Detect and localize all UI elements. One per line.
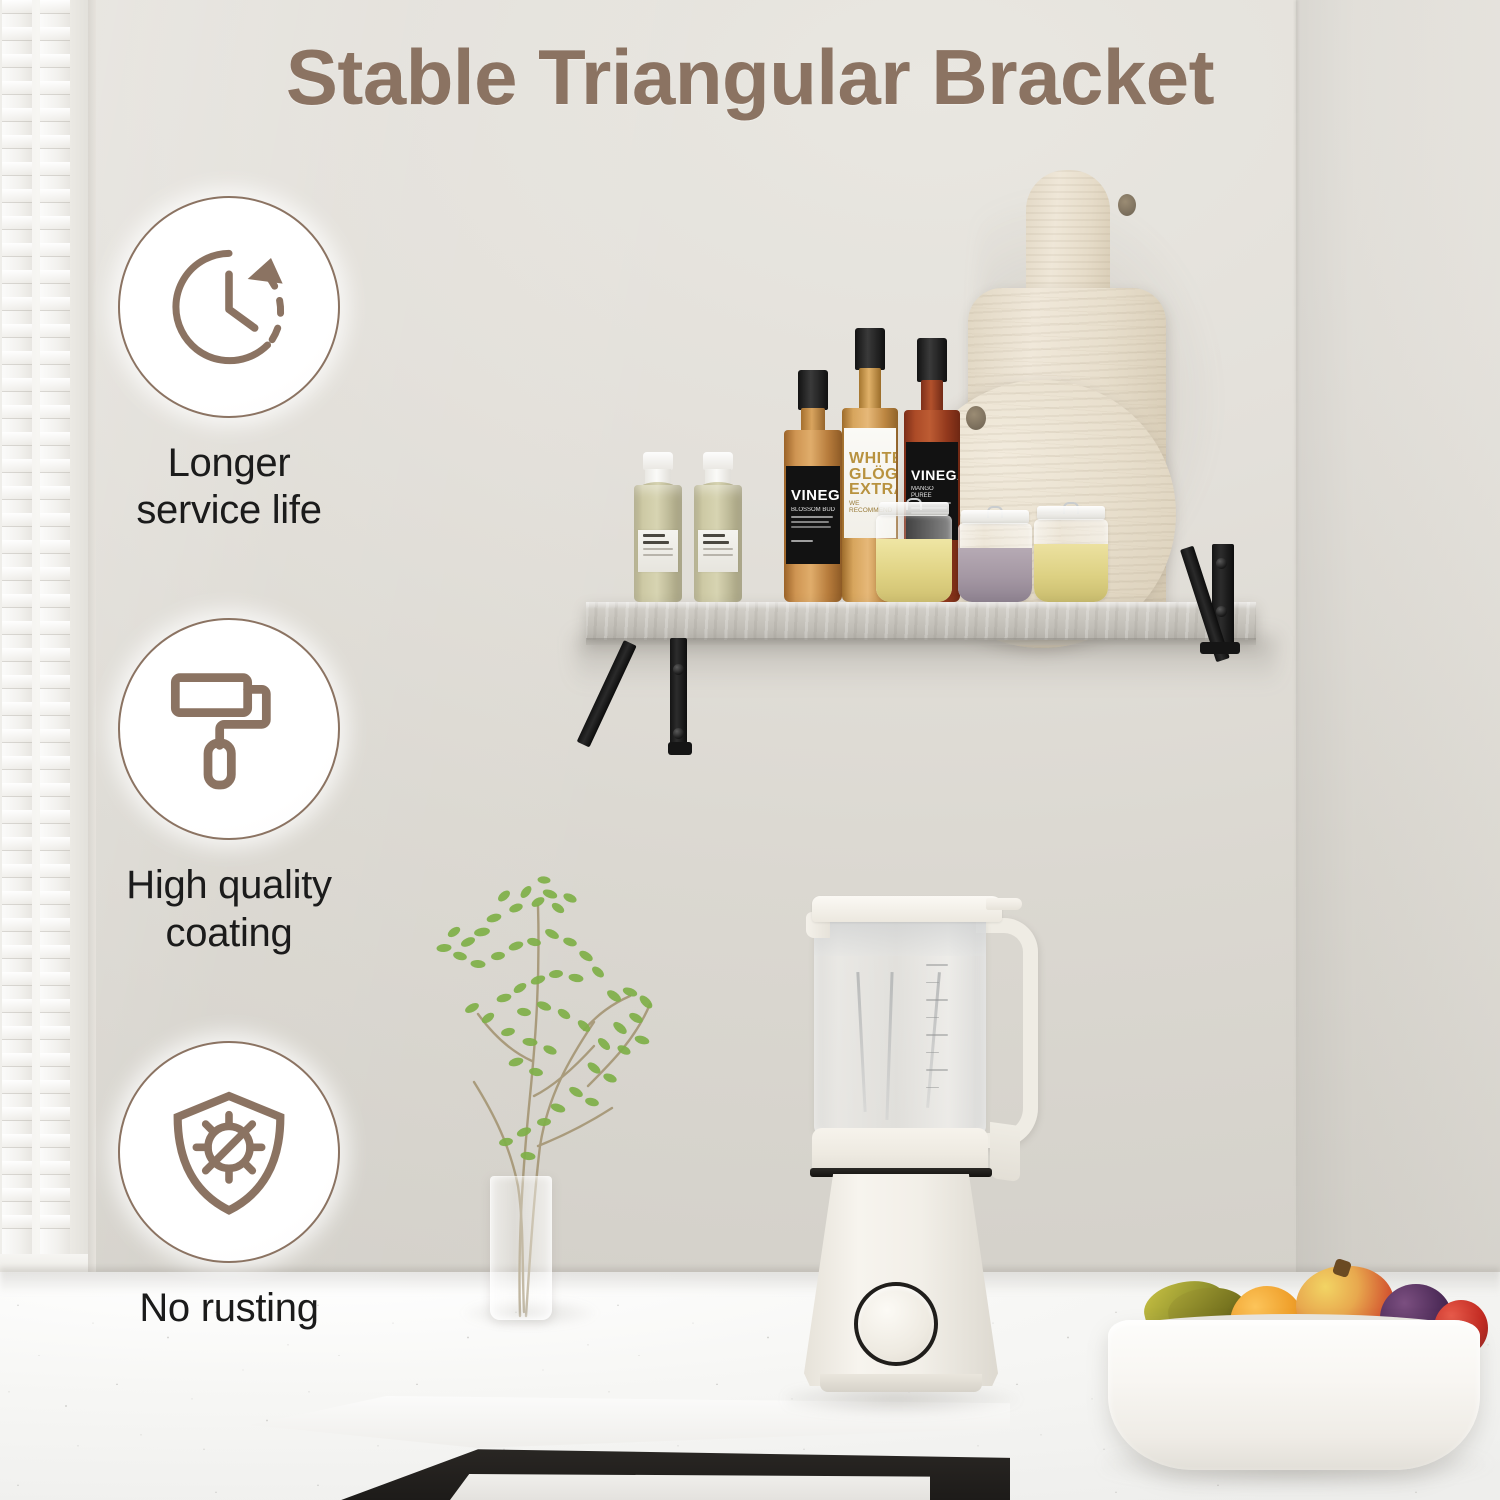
feature-high-quality-coating: High quality coating bbox=[64, 618, 394, 956]
shutter-slat bbox=[2, 351, 32, 364]
shutter-slat bbox=[2, 972, 32, 985]
wall-corner-seam bbox=[1295, 0, 1298, 1290]
bottle-label bbox=[638, 530, 678, 572]
shutter-slat bbox=[2, 756, 32, 769]
bottle-label bbox=[698, 530, 738, 572]
shutter-slat bbox=[40, 0, 70, 13]
shutter-slat bbox=[2, 837, 32, 850]
jar-contents bbox=[1034, 544, 1108, 602]
jar-lid bbox=[1037, 506, 1105, 520]
bottle-cap bbox=[643, 452, 673, 470]
shutter-slat bbox=[40, 162, 70, 175]
blender-lid-tab bbox=[986, 898, 1022, 910]
bottle-cap bbox=[855, 328, 885, 370]
feature-label: Longer service life bbox=[64, 440, 394, 534]
jar-contents bbox=[876, 539, 952, 602]
bottle-label: VINEGAR BLOSSOM BUD bbox=[786, 466, 840, 564]
shelf-board bbox=[586, 602, 1256, 640]
round-board-hole bbox=[966, 406, 986, 430]
juice-bottle-right bbox=[694, 452, 742, 602]
ceramic-fruit-bowl bbox=[1108, 1320, 1480, 1470]
wall-corner-shading bbox=[1296, 0, 1500, 1300]
shutter-slat bbox=[2, 729, 32, 742]
shutter-slat bbox=[2, 810, 32, 823]
shelf-bracket-left bbox=[624, 638, 702, 756]
jar-glass bbox=[958, 523, 1032, 602]
shutter-slat bbox=[2, 1134, 32, 1147]
pitcher-measurement-scale bbox=[926, 964, 960, 1104]
feature-no-rusting: No rusting bbox=[64, 1041, 394, 1332]
jar-glass bbox=[1034, 519, 1108, 602]
bracket-screw-bottom bbox=[1216, 606, 1227, 617]
shutter-slat bbox=[2, 1188, 32, 1201]
bracket-foot bbox=[1200, 642, 1240, 654]
shutter-slat bbox=[2, 1080, 32, 1093]
feature-label: No rusting bbox=[64, 1285, 394, 1332]
grain-jar-3 bbox=[1034, 506, 1108, 602]
jar-contents bbox=[958, 548, 1032, 602]
vinegar-bottle-1: VINEGAR BLOSSOM BUD bbox=[784, 370, 842, 602]
page-title: Stable Triangular Bracket bbox=[0, 32, 1500, 123]
paint-roller-icon bbox=[159, 659, 299, 799]
shutter-slat bbox=[2, 783, 32, 796]
shutter-slat bbox=[2, 243, 32, 256]
shutter-slat bbox=[2, 162, 32, 175]
feature-icon-badge bbox=[118, 196, 340, 418]
shutter-slat bbox=[2, 1215, 32, 1228]
shutter-slat bbox=[2, 405, 32, 418]
window-shutter-left bbox=[2, 0, 32, 1260]
shelf-bracket-right bbox=[1178, 544, 1242, 656]
shutter-slat bbox=[2, 648, 32, 661]
shutter-slat bbox=[2, 1161, 32, 1174]
jar-lid bbox=[961, 510, 1029, 524]
blender-foot bbox=[820, 1374, 982, 1392]
blender-pitcher bbox=[814, 918, 986, 1136]
blender-appliance bbox=[800, 896, 1040, 1408]
label-fineprint bbox=[791, 513, 835, 542]
shutter-slat bbox=[2, 675, 32, 688]
shutter-slat bbox=[2, 270, 32, 283]
shutter-slat bbox=[2, 324, 32, 337]
shutter-slat bbox=[2, 1053, 32, 1066]
pitcher-liquid-line bbox=[814, 918, 986, 956]
shutter-slat bbox=[40, 135, 70, 148]
blender-control-knob[interactable] bbox=[854, 1282, 938, 1366]
fruit-bowl-group bbox=[1108, 1262, 1500, 1488]
shutter-slat bbox=[2, 621, 32, 634]
feature-list: Longer service life High quality coating bbox=[64, 196, 394, 1416]
shutter-slat bbox=[2, 999, 32, 1012]
blender-handle-tail bbox=[990, 1122, 1020, 1182]
shutter-slat bbox=[2, 135, 32, 148]
shutter-slat bbox=[2, 1107, 32, 1120]
feature-label: High quality coating bbox=[64, 862, 394, 956]
glass-vase bbox=[490, 1176, 552, 1320]
shutter-slat bbox=[2, 540, 32, 553]
shutter-slat bbox=[2, 702, 32, 715]
blender-collar bbox=[812, 1128, 988, 1172]
jar-lid bbox=[879, 502, 949, 516]
paddle-board-hole bbox=[1118, 194, 1136, 216]
feature-longer-service-life: Longer service life bbox=[64, 196, 394, 534]
bottle-cap bbox=[703, 452, 733, 470]
bracket-foot bbox=[668, 742, 692, 755]
shutter-slat bbox=[2, 594, 32, 607]
jar-glass bbox=[876, 515, 952, 602]
shutter-slat bbox=[2, 918, 32, 931]
bracket-screw-top bbox=[1216, 558, 1227, 569]
shutter-slat bbox=[2, 945, 32, 958]
shutter-slat bbox=[2, 1026, 32, 1039]
grain-jar-2 bbox=[958, 510, 1032, 602]
pitcher-blade-1 bbox=[856, 972, 866, 1112]
shutter-slat bbox=[2, 513, 32, 526]
bracket-screw-bottom bbox=[673, 728, 684, 739]
shutter-slat bbox=[2, 891, 32, 904]
shield-rust-icon bbox=[159, 1082, 299, 1222]
branch-plant bbox=[398, 846, 698, 1326]
feature-icon-badge bbox=[118, 618, 340, 840]
wall-shelf-assembly: VINEGAR BLOSSOM BUD WHITE GLÖGG EXTRACT … bbox=[586, 592, 1266, 762]
shutter-slat bbox=[2, 567, 32, 580]
shutter-slat bbox=[2, 432, 32, 445]
shutter-slat bbox=[2, 297, 32, 310]
cabinet-panel bbox=[450, 1474, 930, 1500]
blender-lid bbox=[812, 896, 1002, 922]
juice-bottle-left bbox=[634, 452, 682, 602]
clock-arrow-icon bbox=[159, 237, 299, 377]
shutter-slat bbox=[2, 378, 32, 391]
bottle-cap bbox=[798, 370, 828, 410]
grain-jar-1 bbox=[876, 502, 952, 602]
shutter-slat bbox=[2, 216, 32, 229]
shutter-slat bbox=[2, 0, 32, 13]
shutter-slat bbox=[2, 486, 32, 499]
pitcher-blade-2 bbox=[885, 972, 893, 1120]
shutter-slat bbox=[2, 189, 32, 202]
feature-icon-badge bbox=[118, 1041, 340, 1263]
bracket-screw-top bbox=[673, 664, 684, 675]
shutter-slat bbox=[2, 864, 32, 877]
bottle-cap bbox=[917, 338, 947, 382]
shutter-slat bbox=[2, 459, 32, 472]
